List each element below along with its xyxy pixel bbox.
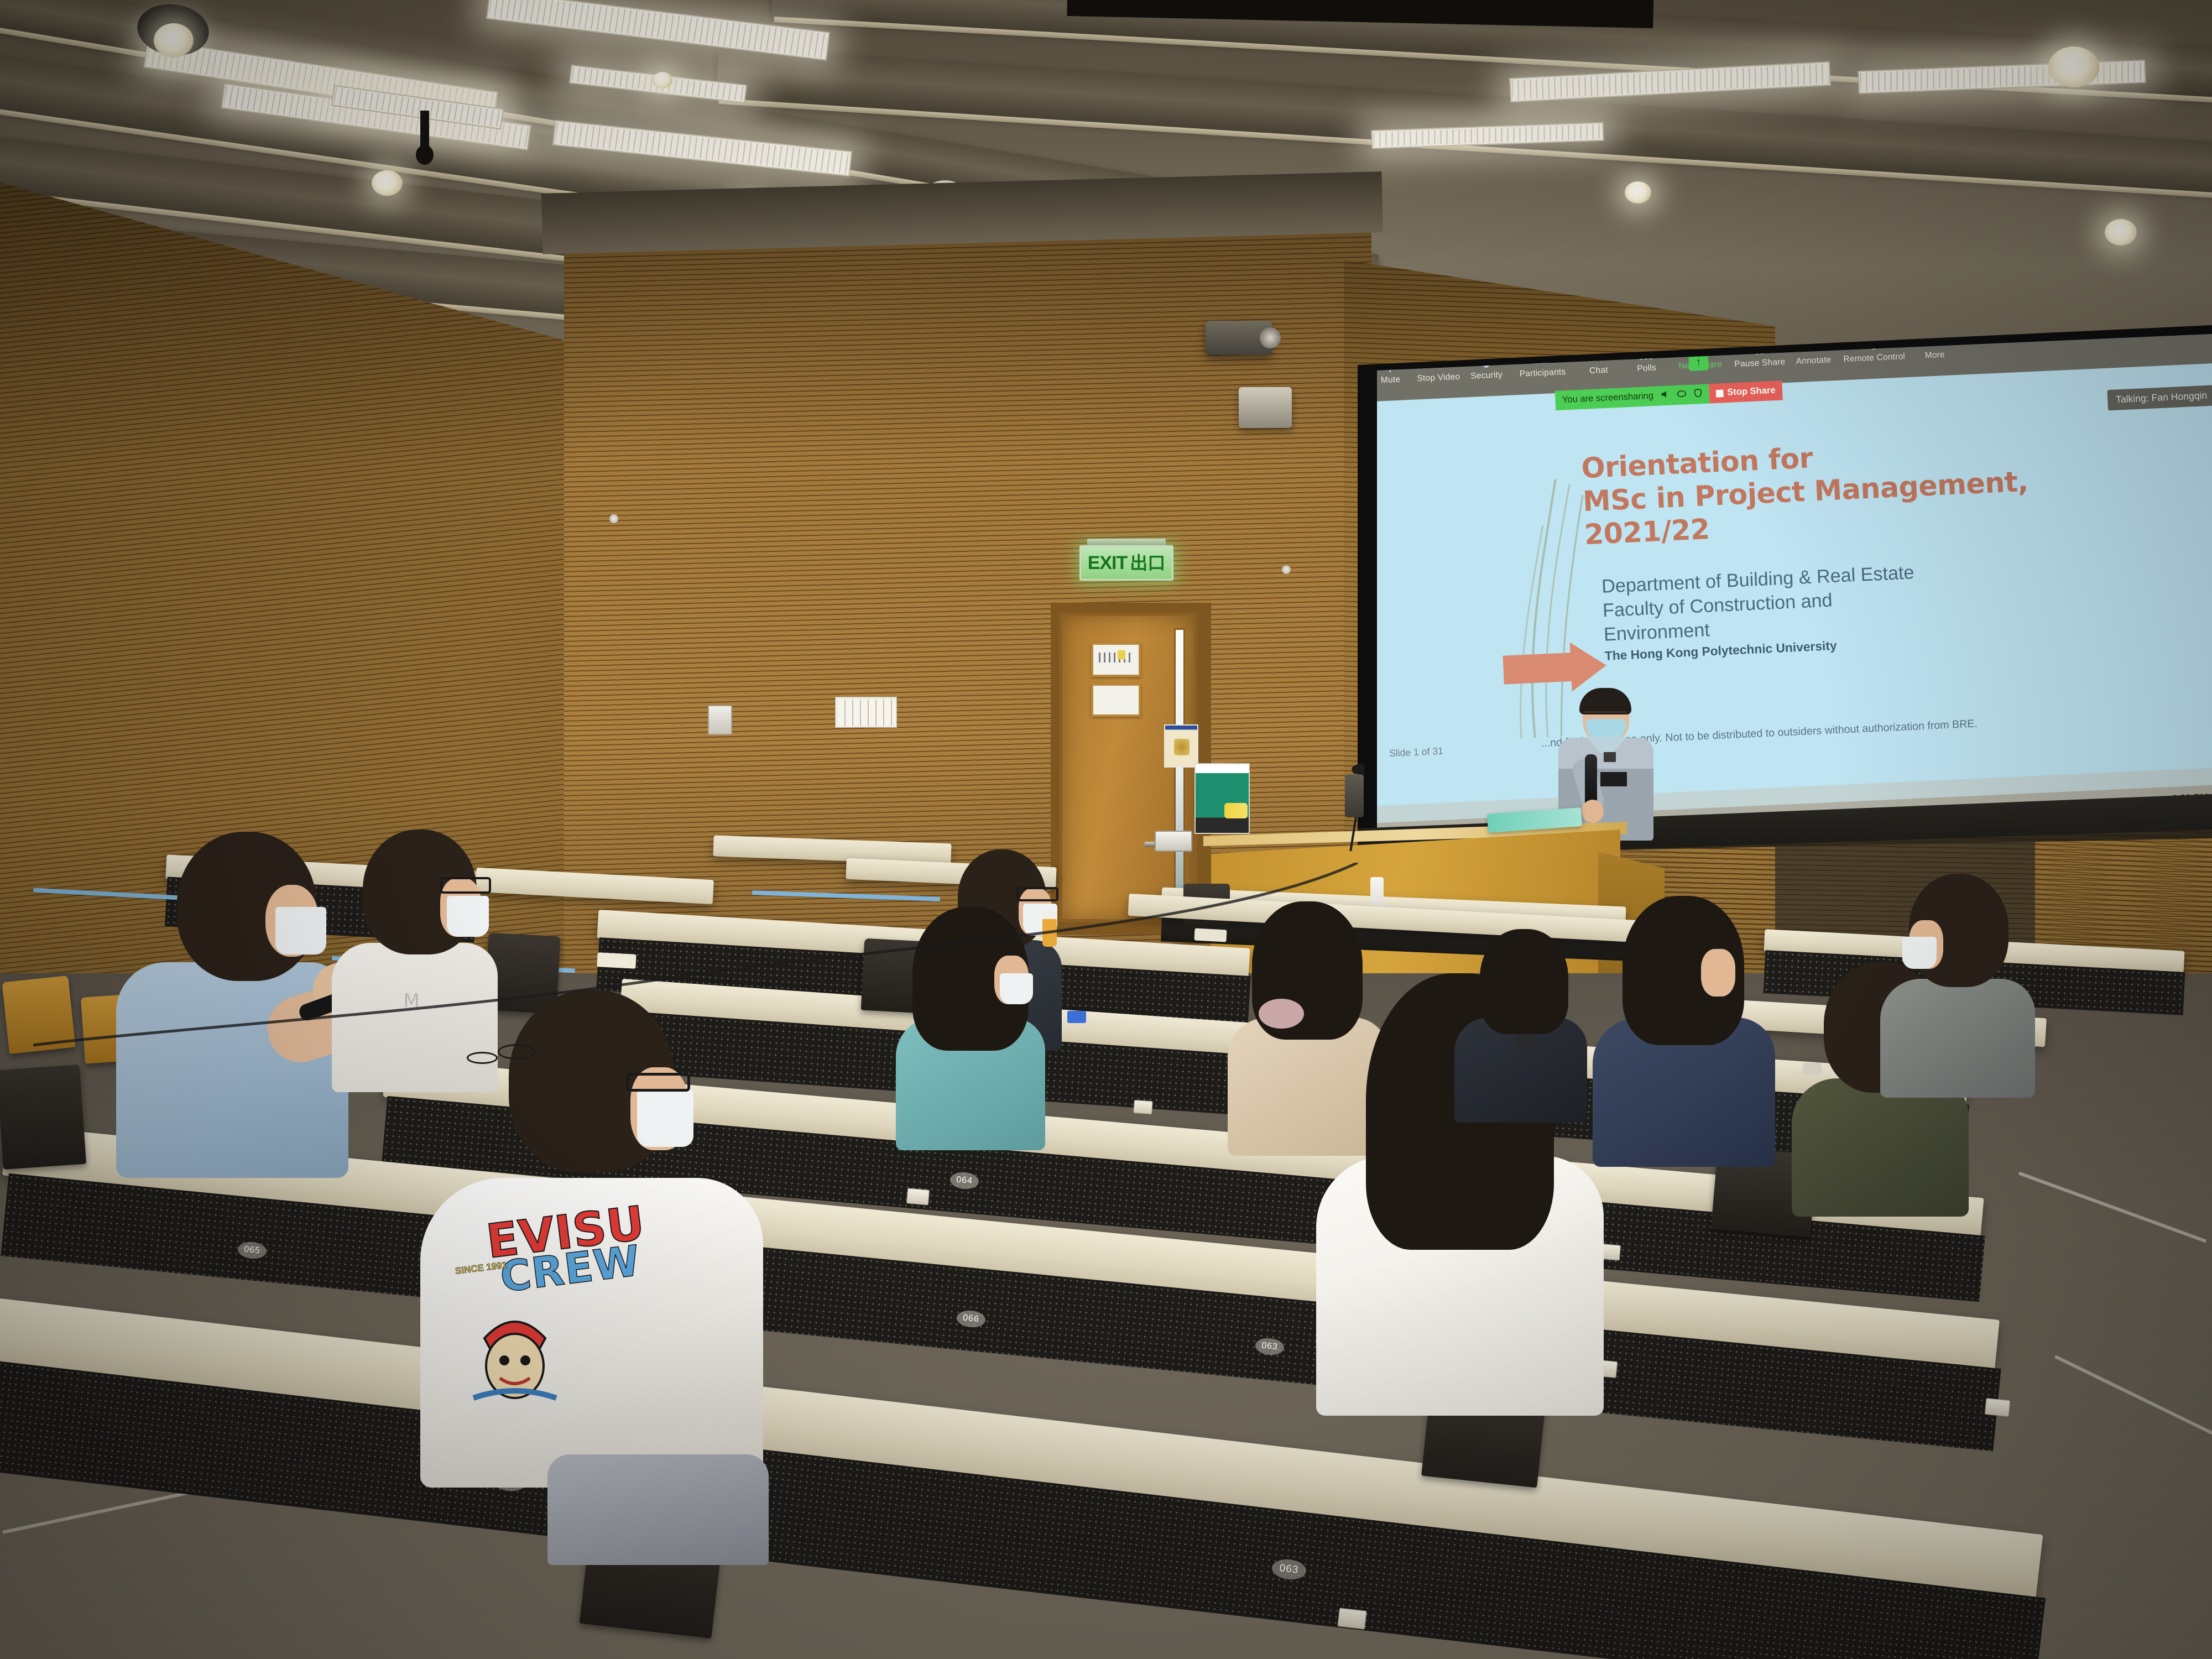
presenter-glasses: [1584, 711, 1627, 719]
presenter-badge: [1604, 752, 1616, 762]
ceiling-downlight: [2105, 219, 2137, 246]
ceiling-projector: [1206, 321, 1272, 355]
ceiling-downlight: [372, 170, 403, 196]
ceiling-downlight: [154, 23, 194, 58]
student-shirt: [1880, 979, 2035, 1098]
door-notice-upper: [1091, 643, 1141, 677]
student-person: [1454, 929, 1593, 1117]
phone-on-desk: [1515, 1035, 1534, 1047]
student-shorts: [547, 1454, 769, 1565]
shield-small-icon[interactable]: [1693, 388, 1702, 400]
student-person: [1880, 874, 2041, 1095]
desk-power-socket[interactable]: [1337, 1608, 1367, 1630]
zoom-label-polls: Polls: [1637, 363, 1656, 373]
desk-power-socket[interactable]: [1985, 1398, 2011, 1417]
ceiling-hanger: [420, 111, 429, 149]
exit-sign-text-cn: 出口: [1130, 554, 1165, 572]
wall-fixing-dot: [1282, 565, 1291, 574]
ceiling-downlight: [1625, 181, 1651, 204]
wall-fixing-dot: [609, 514, 618, 523]
presenter-hand: [1582, 800, 1604, 823]
student-face-mask: [1902, 937, 1937, 969]
card-reader[interactable]: [1155, 831, 1192, 852]
projection-screen: ⌄ Mute ⌄ Stop Video: [1377, 334, 2212, 831]
screenshare-status-text: You are screensharing: [1562, 391, 1654, 405]
lecture-theatre-photo: EXIT 出口: [0, 0, 2212, 1659]
mute-small-icon[interactable]: [1660, 390, 1671, 401]
student-shirt: [1792, 1078, 1969, 1217]
item-on-desk: [1803, 1063, 1822, 1075]
wall-speaker: [1239, 387, 1292, 428]
microphone-cable: [0, 863, 1438, 1161]
ceiling-downlight: [2048, 46, 2099, 87]
zoom-label-stop-video: Stop Video: [1417, 372, 1460, 383]
exit-sign-text-en: EXIT: [1088, 554, 1128, 572]
ceiling-downlight: [653, 72, 672, 88]
zoom-label-annotate: Annotate: [1796, 355, 1832, 366]
wall-label-strip: [835, 697, 897, 728]
presenter-hair: [1579, 688, 1631, 714]
zoom-label-security: Security: [1470, 370, 1503, 381]
talking-indicator: Talking: Fan Hongqin: [2107, 385, 2212, 410]
zoom-label-pause-share: Pause Share: [1734, 357, 1786, 369]
presenter-pocket: [1600, 772, 1627, 786]
wall-switch-plate[interactable]: [708, 705, 732, 735]
zoom-label-more: More: [1924, 349, 1945, 360]
exit-sign-body: EXIT 出口: [1079, 545, 1173, 581]
slide-decoration-arrow: [1503, 641, 1608, 695]
ceiling-sensor: [416, 145, 434, 165]
stop-square-icon: [1715, 389, 1723, 397]
bottle-on-ledge: [1345, 774, 1364, 817]
desk-power-socket[interactable]: [906, 1188, 930, 1205]
student-person: [1593, 896, 1781, 1161]
slide-counter: Slide 1 of 31: [1389, 745, 1444, 759]
projector-lens: [1260, 327, 1281, 348]
student-face: [1701, 949, 1735, 997]
exit-sign: EXIT 出口: [1075, 539, 1178, 582]
tshirt-mascot-graphic: [468, 1300, 562, 1405]
stop-share-button[interactable]: Stop Share: [1708, 380, 1782, 403]
zoom-label-mute: Mute: [1380, 374, 1400, 385]
stop-share-label: Stop Share: [1727, 385, 1776, 398]
student-hair: [1480, 929, 1568, 1034]
wall-poster-health: [1194, 763, 1250, 834]
zoom-label-remote-control: Remote Control: [1843, 352, 1905, 364]
zoom-label-participants: Participants: [1519, 367, 1566, 379]
slide-subtitle: Department of Building & Real Estate Fac…: [1601, 552, 2096, 646]
door-notice-lower: [1091, 684, 1141, 717]
slide-title: Orientation for MSc in Project Managemen…: [1580, 429, 2100, 552]
video-small-icon[interactable]: [1677, 389, 1687, 400]
zoom-label-chat: Chat: [1589, 365, 1608, 375]
wall-poster-notice: [1164, 724, 1198, 768]
